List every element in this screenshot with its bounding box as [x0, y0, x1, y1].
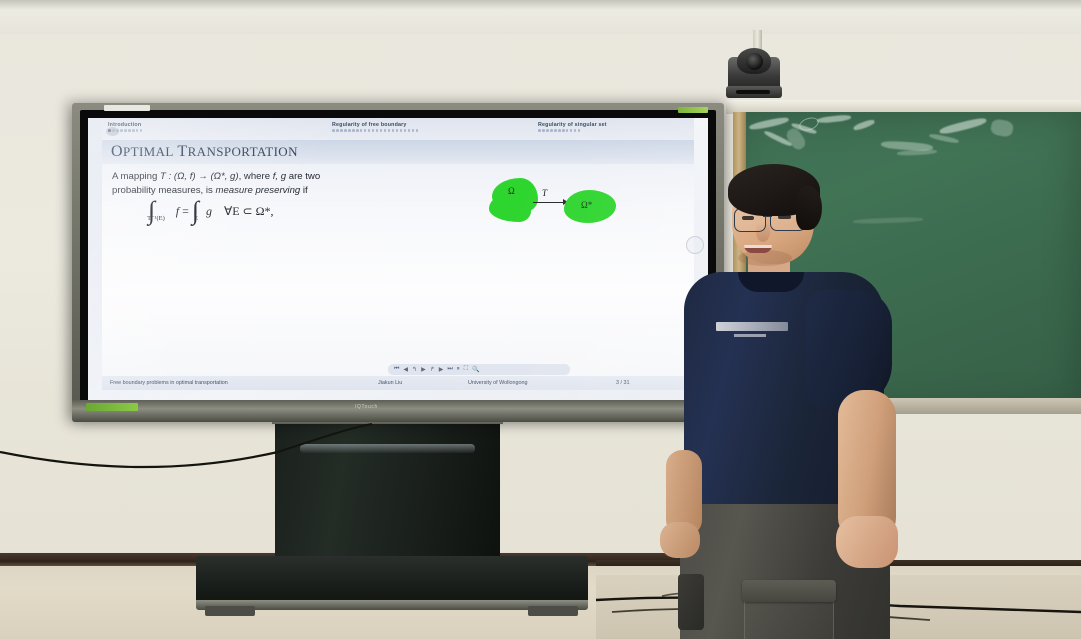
beamer-slide: Introduction Regularity of free boundary…: [88, 118, 708, 400]
lecture-room-scene: Introduction Regularity of free boundary…: [0, 0, 1081, 639]
formula-condition: ∀E ⊂ Ω*,: [224, 204, 274, 218]
formula-equals: =: [182, 204, 189, 218]
stand-foot-left: [205, 606, 255, 616]
footer-page-number: 3 / 31: [616, 380, 630, 386]
display-stand-column: [275, 422, 500, 562]
paragraph-emphasis: measure preserving: [215, 185, 300, 196]
nav-dots-regularity-free-boundary: [332, 129, 418, 132]
stand-foot-right: [528, 606, 578, 616]
target-domain-label: Ω*: [581, 200, 592, 210]
paragraph-part-2: , where: [239, 171, 273, 182]
display-brand-label: IQTouch: [355, 404, 378, 410]
slide-title-initial2: T: [177, 143, 187, 160]
integral-subscript-2: E: [194, 215, 198, 222]
nav-dots-regularity-singular-set: [538, 129, 580, 132]
paragraph-part-4: probability measures, is: [112, 185, 215, 196]
last-page-icon[interactable]: ⏭: [447, 366, 452, 373]
fullscreen-icon[interactable]: ⛶: [464, 366, 468, 373]
presenter-left-hand: [660, 522, 700, 558]
slide-title-word2: RANSPORTATION: [188, 144, 298, 159]
zoom-icon[interactable]: 🔍: [472, 366, 479, 373]
integral-subscript-1: T⁻¹(E): [147, 215, 165, 222]
camera-lens-icon: [746, 53, 763, 70]
back-icon[interactable]: ↰: [412, 366, 417, 373]
formula-density-g: g: [206, 204, 212, 218]
camera-vent: [736, 90, 770, 94]
footer-institution: University of Wollongong: [468, 380, 528, 386]
paragraph-part-3: are two: [286, 171, 320, 182]
cargo-pocket-flap: [742, 580, 836, 602]
shirt-sleeve: [806, 290, 892, 408]
paragraph-math-1: T : (Ω, f) → (Ω*, g): [160, 171, 239, 182]
presenter-mouth: [744, 245, 772, 253]
prev-page-icon[interactable]: ◀: [403, 366, 408, 373]
bezel-label-top-left: [104, 105, 150, 111]
first-page-icon[interactable]: ⏮: [394, 366, 399, 373]
nav-section-regularity-singular-set[interactable]: Regularity of singular set: [538, 122, 607, 128]
paragraph-math-2: f, g: [273, 171, 286, 182]
nav-section-regularity-free-boundary[interactable]: Regularity of free boundary: [332, 122, 407, 128]
paragraph-part-5: if: [300, 185, 307, 196]
forward-icon[interactable]: ↱: [430, 366, 435, 373]
transport-arrow-line: [533, 202, 565, 203]
footer-author: Jiakun Liu: [378, 380, 402, 386]
display-stand-base: [196, 556, 588, 606]
viewer-side-panel-button[interactable]: [106, 127, 119, 136]
stand-reflection: [300, 444, 475, 453]
paragraph-part-1: A mapping: [112, 171, 160, 182]
play-icon[interactable]: ▶: [421, 366, 426, 373]
presenter: [660, 150, 940, 639]
shirt-collar: [738, 272, 804, 292]
source-domain-label: Ω: [508, 186, 515, 196]
slide-title-word1: PTIMAL: [123, 144, 174, 159]
pants-pocket-left: [678, 574, 704, 630]
display-bottom-bezel: [72, 400, 724, 422]
display-screen[interactable]: Introduction Regularity of free boundary…: [88, 118, 708, 400]
presenter-right-hand: [836, 516, 898, 568]
pdf-viewer-toolbar[interactable]: ⏮ ◀ ↰ ▶ ↱ ▶ ⏭ ⏸ ⛶ 🔍: [388, 364, 570, 375]
pause-icon[interactable]: ⏸: [457, 366, 460, 373]
bezel-sticker-bottom-left: [86, 403, 138, 411]
footer-talk-title: Free boundary problems in optimal transp…: [110, 380, 228, 386]
bezel-sticker-top-right: [678, 107, 708, 113]
slide-title-initial: O: [111, 143, 123, 160]
transport-map-label: T: [542, 188, 547, 198]
shirt-graphic-print: [716, 322, 788, 340]
ceiling-shadow: [0, 0, 1081, 10]
slide-title: OPTIMAL TRANSPORTATION: [111, 143, 298, 161]
next-page-icon[interactable]: ▶: [439, 366, 444, 373]
presenter-hair-side: [796, 186, 822, 230]
slide-formula: ∫T⁻¹(E) f = ∫E g ∀E ⊂ Ω*,: [148, 204, 274, 219]
formula-density-f: f: [176, 204, 179, 218]
slide-paragraph: A mapping T : (Ω, f) → (Ω*, g), where f,…: [112, 170, 442, 198]
